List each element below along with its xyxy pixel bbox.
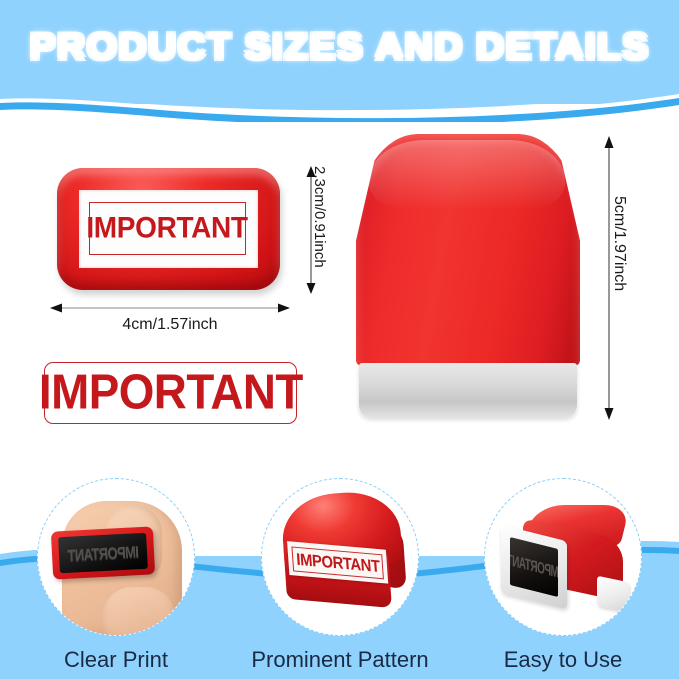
stamp-impression-text: IMPORTANT: [39, 365, 303, 421]
stamp-die-face: IMPORTANT: [58, 533, 148, 574]
stamp-face-graphic: IMPORTANT: [57, 168, 280, 290]
stamp-body-graphic: [356, 134, 580, 422]
stamp-body-height-dimension: 5cm/1.97inch: [592, 136, 654, 420]
stamp-die-text: IMPORTANT: [510, 551, 558, 582]
stamp-die-face: IMPORTANT: [510, 537, 558, 597]
feature-easy-to-use: IMPORTANT Easy to Use: [468, 478, 658, 673]
stamp-cap-graphic: [597, 576, 629, 613]
stamp-body-red-shell: [356, 134, 580, 366]
stamp-label-text: IMPORTANT: [295, 549, 380, 575]
horizontal-arrow-icon: [50, 300, 290, 316]
feature-image-circle: IMPORTANT: [484, 478, 642, 636]
stamp-face-panel: IMPORTANT: [79, 190, 258, 268]
stamp-impression: IMPORTANT: [44, 362, 297, 424]
spec-area: IMPORTANT 2.3cm/0.91inch 4cm/1.57inch: [0, 104, 679, 464]
angled-stamp-graphic: IMPORTANT: [278, 489, 408, 617]
stamp-face-width-dimension: 4cm/1.57inch: [50, 300, 290, 344]
stamp-body-height-label: 5cm/1.97inch: [610, 196, 628, 366]
feature-image-circle: IMPORTANT: [37, 478, 195, 636]
stamp-face-height-label: 2.3cm/0.91inch: [311, 166, 328, 294]
held-stamp-graphic: IMPORTANT: [51, 526, 155, 579]
feature-image-circle: IMPORTANT: [261, 478, 419, 636]
stamp-die-text: IMPORTANT: [67, 542, 139, 564]
feature-label-prominent-pattern: Prominent Pattern: [245, 647, 435, 673]
stamp-face-width-label: 4cm/1.57inch: [50, 316, 290, 334]
feature-label-easy-to-use: Easy to Use: [468, 647, 658, 673]
stamp-open-graphic: IMPORTANT: [501, 505, 633, 613]
feature-prominent-pattern: IMPORTANT Prominent Pattern: [245, 478, 435, 673]
page-title: PRODUCT SIZES AND DETAILS: [0, 26, 679, 68]
stamp-face-text-box: IMPORTANT: [89, 202, 246, 255]
feature-label-clear-print: Clear Print: [21, 647, 211, 673]
stamp-face-imprint-text: IMPORTANT: [87, 211, 248, 245]
stamp-face-height-dimension: 2.3cm/0.91inch: [291, 166, 349, 294]
stamp-body-highlight: [369, 140, 565, 210]
thumb-graphic: [102, 587, 174, 636]
stamp-label-text-box: IMPORTANT: [291, 546, 384, 579]
feature-clear-print: IMPORTANT Clear Print: [21, 478, 211, 673]
stamp-body-gray-base: [359, 363, 577, 417]
product-infographic: PRODUCT SIZES AND DETAILS IMPORTANT 2.3c…: [0, 0, 679, 679]
